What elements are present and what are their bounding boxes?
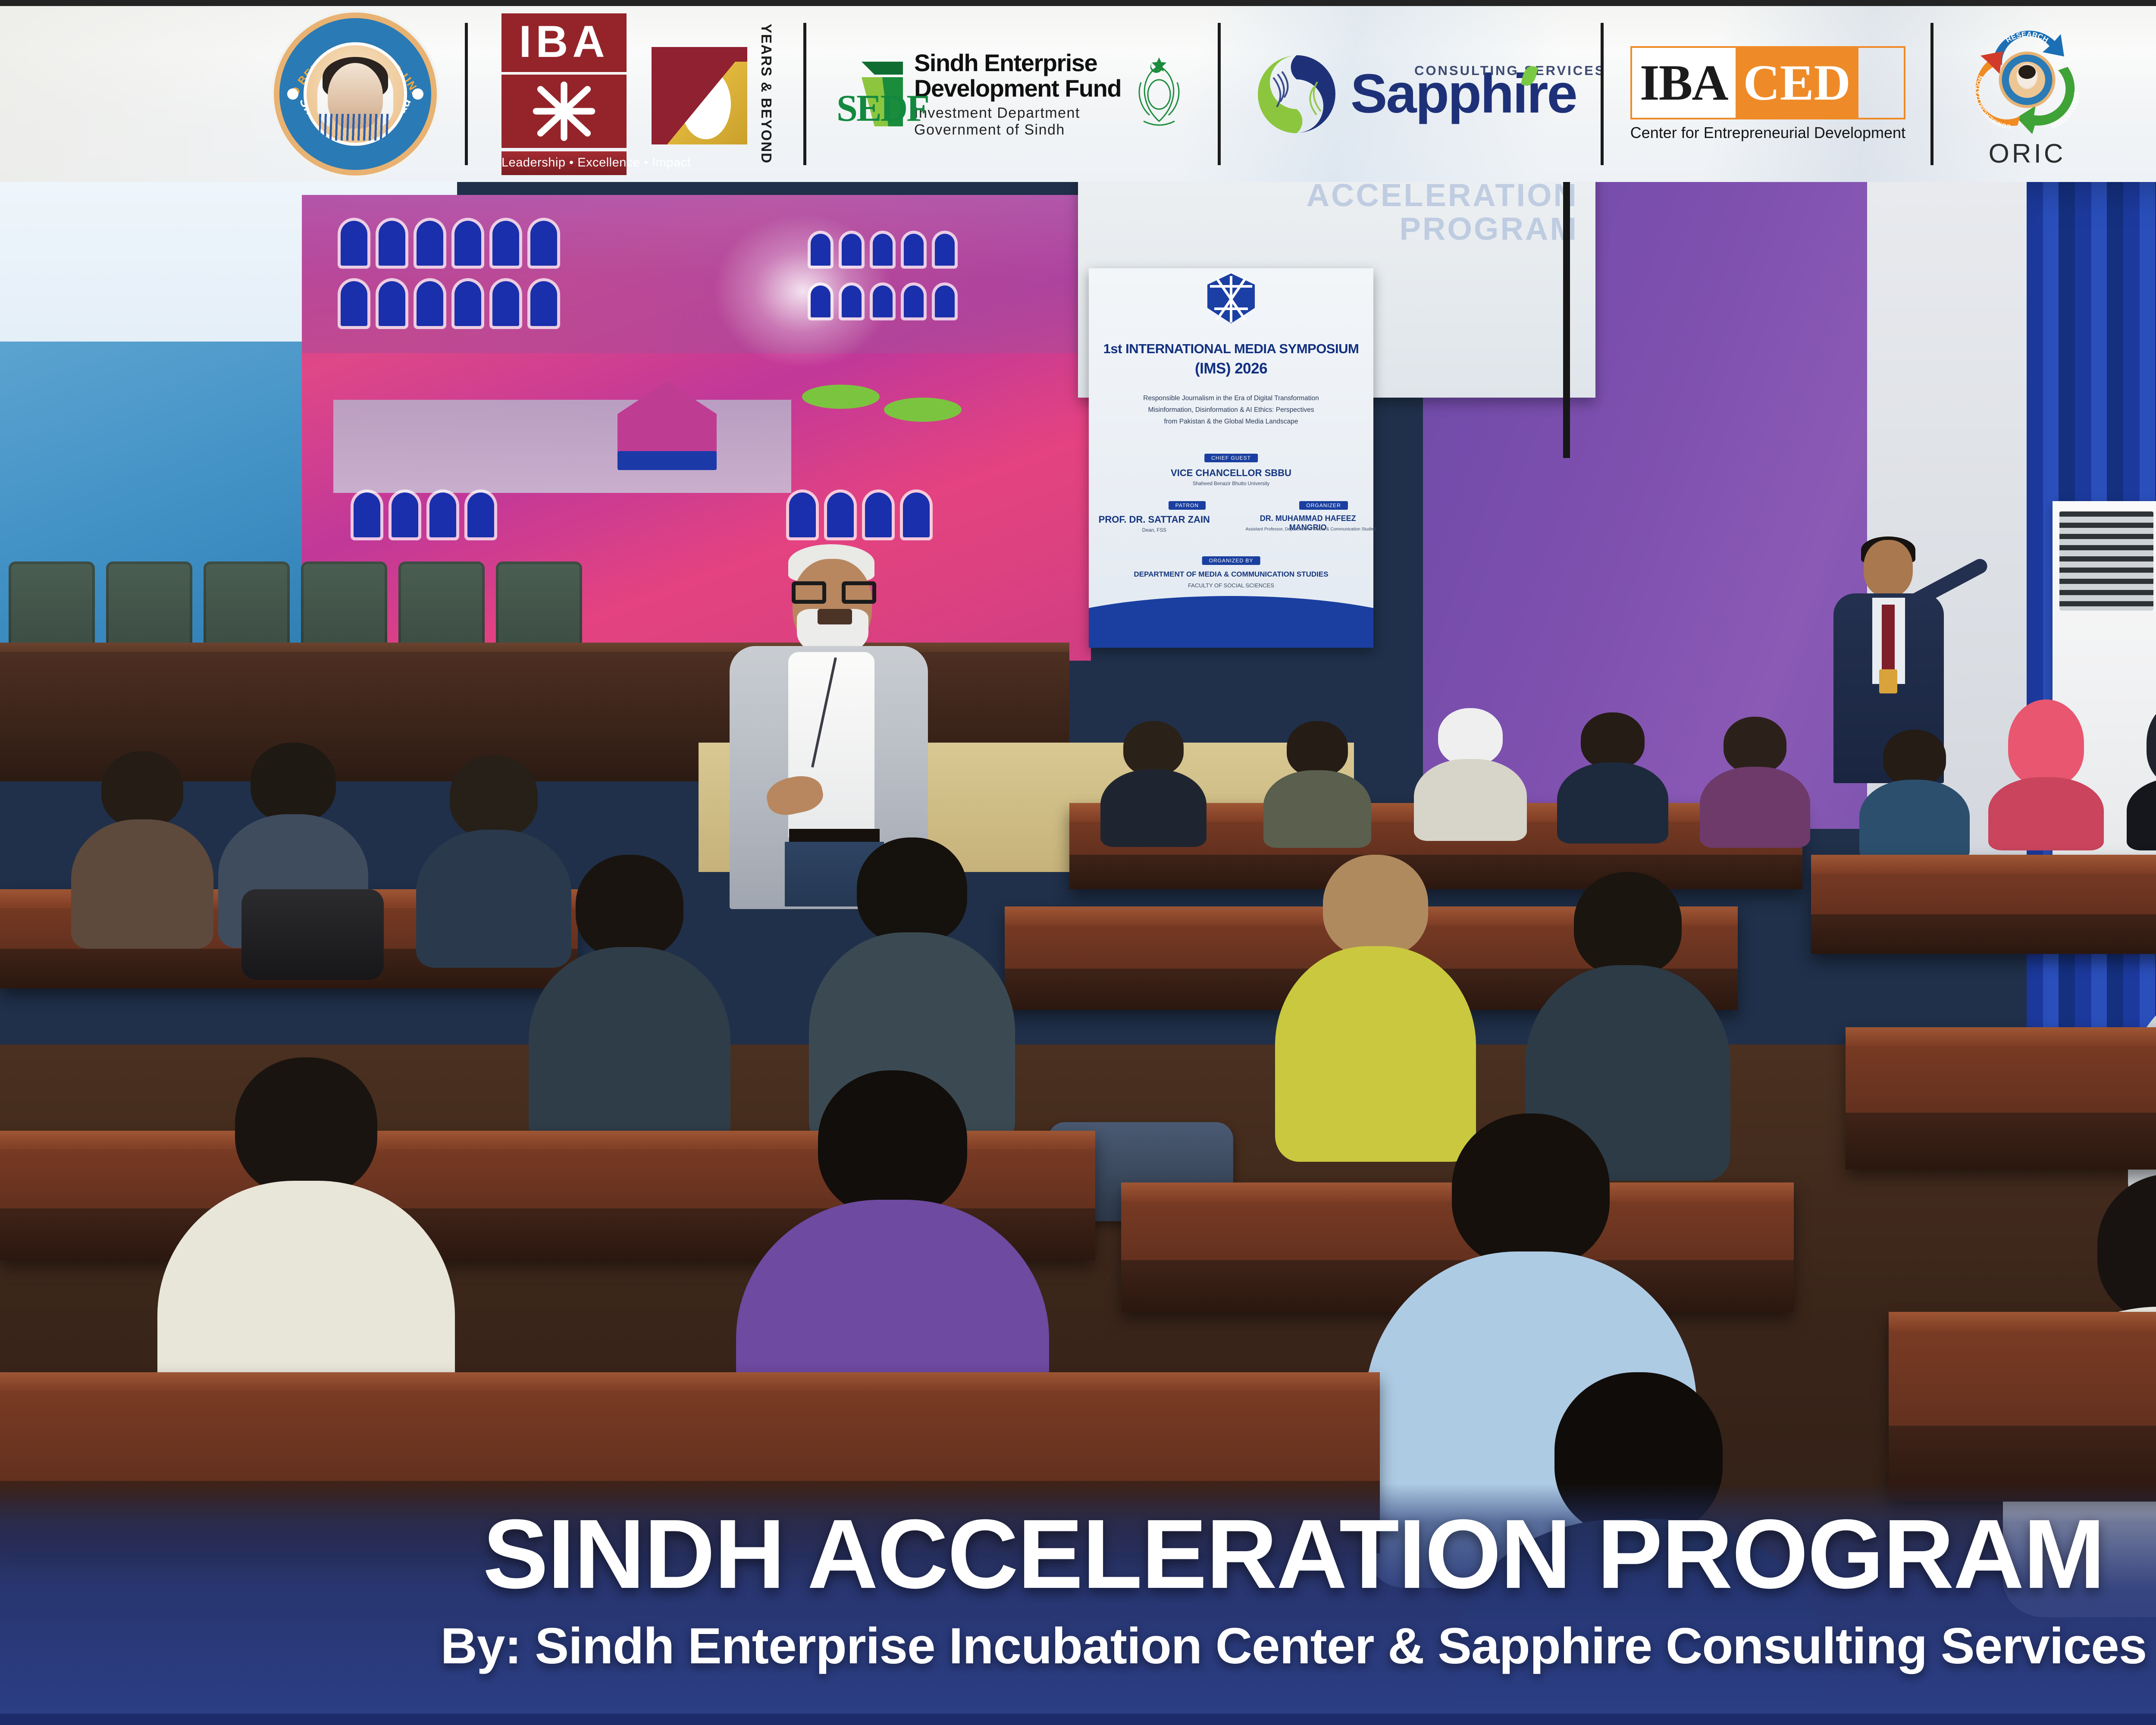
sedf-logo: SEDF Sindh Enterprise Development Fund I…	[838, 51, 1188, 137]
sedf-line2: Development Fund	[914, 76, 1121, 100]
standee-patron-label: PATRON	[1169, 501, 1206, 510]
logo-iba-ced: IBA CED Center for Entrepreneurial Devel…	[1630, 6, 1905, 182]
audience-person-hijab	[1992, 699, 2100, 837]
standee-chief-guest-label: CHIEF GUEST	[1204, 454, 1258, 462]
iba-ced-caption: Center for Entrepreneurial Development	[1630, 124, 1905, 142]
mural-window-row	[811, 234, 955, 266]
oric-wordmark: ORIC	[1989, 138, 2066, 169]
assistant-id-badge	[1879, 669, 1897, 693]
audience-person	[539, 855, 720, 1139]
top-border-rule	[0, 0, 2156, 6]
logo-seventy-years: YEARS & BEYOND	[641, 6, 783, 182]
logo-divider-2	[803, 23, 806, 165]
stage-chair	[398, 561, 485, 656]
sedf-line3: Investment Department	[914, 106, 1121, 120]
mural-window-row	[341, 221, 557, 266]
stage-chair	[106, 561, 192, 656]
mural-window-row	[789, 492, 930, 537]
standee-crest-icon	[1190, 272, 1272, 332]
logo-iba: IBA Leadership • Excellence • Impact	[501, 6, 627, 182]
sedf-line4: Government of Sindh	[914, 122, 1121, 137]
logo-oric: RESEARCH INNOVATION COMMERCIALIZATION	[1956, 6, 2098, 182]
svg-text:RESEARCH: RESEARCH	[2004, 30, 2049, 44]
mural-hedge	[884, 398, 962, 422]
logo-divider-1	[465, 23, 468, 165]
audience-person-abaya	[2130, 699, 2156, 837]
poster-title-band: SINDH ACCELERATION PROGRAM By: Sindh Ent…	[0, 1483, 2156, 1725]
stage-chair	[301, 561, 387, 656]
desk-row-nearest-right	[1889, 1312, 2156, 1502]
projected-slide-text: ACCELERATION PROGRAM	[1307, 182, 1578, 246]
oric-cycle-icon: RESEARCH INNOVATION COMMERCIALIZATION	[1962, 19, 2092, 140]
assistant-head	[1864, 540, 1913, 597]
sapphire-wordmark: CONSULTING SERVICES Sapphire	[1351, 66, 1576, 122]
event-standee-banner: 1st INTERNATIONAL MEDIA SYMPOSIUM (IMS) …	[1089, 268, 1373, 648]
mural-window-row	[354, 492, 494, 537]
event-poster: SHAHEED BENAZIR BHUTTO UNIVERSITY Shahee…	[0, 0, 2156, 1725]
ac-vent-grille	[2059, 511, 2153, 611]
projected-line-1: ACCELERATION	[1307, 182, 1578, 213]
sbbu-seal: SHAHEED BENAZIR BHUTTO UNIVERSITY Shahee…	[279, 18, 431, 170]
logo-divider-4	[1601, 23, 1604, 165]
sedf-acronym: SEDF	[837, 90, 928, 128]
standee-theme: Responsible Journalism in the Era of Dig…	[1103, 392, 1359, 427]
sbbu-portrait-medallion	[304, 42, 407, 146]
desk-row-front-right	[1846, 1027, 2156, 1170]
standee-chief-guest-role: Shaheed Benazir Bhutto University	[1089, 480, 1373, 488]
logo-divider-3	[1218, 23, 1221, 165]
presenter-mouth	[818, 609, 852, 624]
audience-person	[1285, 855, 1466, 1157]
backpack	[241, 889, 384, 980]
sapphire-logo: CONSULTING SERVICES Sapphire	[1253, 50, 1576, 138]
logo-divider-5	[1930, 23, 1934, 165]
oric-logo: RESEARCH INNOVATION COMMERCIALIZATION	[1956, 19, 2098, 169]
standee-title: 1st INTERNATIONAL MEDIA SYMPOSIUM (IMS) …	[1089, 341, 1373, 378]
iba-ced-logo: IBA CED Center for Entrepreneurial Devel…	[1630, 46, 1905, 142]
seventy-years-logo: YEARS & BEYOND	[641, 23, 783, 165]
stage-chair-row	[9, 561, 699, 656]
sbbu-dot-left	[287, 88, 298, 100]
iba-ced-left-word: IBA	[1632, 48, 1736, 118]
sponsor-logo-bar: SHAHEED BENAZIR BHUTTO UNIVERSITY Shahee…	[0, 6, 2156, 182]
poster-subtitle: By: Sindh Enterprise Incubation Center &…	[0, 1621, 2156, 1672]
poster-title: SINDH ACCELERATION PROGRAM	[0, 1505, 2156, 1603]
mural-window-row	[341, 281, 557, 326]
projector-screen-support	[1563, 182, 1570, 458]
bottom-border-rule	[0, 1714, 2156, 1725]
standee-title-line1: 1st INTERNATIONAL MEDIA SYMPOSIUM	[1103, 341, 1359, 356]
stage-chair	[204, 561, 290, 656]
audience-person	[1104, 721, 1203, 833]
logo-sedf: SEDF Sindh Enterprise Development Fund I…	[838, 6, 1188, 182]
iba-starburst-icon	[501, 75, 627, 148]
sedf-line1: Sindh Enterprise	[914, 51, 1121, 75]
sedf-mark: SEDF	[838, 56, 907, 132]
mural-window-row	[811, 285, 955, 317]
iba-tagline: Leadership • Excellence • Impact	[501, 151, 627, 175]
seventy-years-vertical-text: YEARS & BEYOND	[759, 24, 774, 164]
logo-sapphire: CONSULTING SERVICES Sapphire	[1253, 6, 1576, 182]
mural-plaza	[333, 400, 791, 493]
mural-sky	[302, 195, 1091, 353]
standee-theme-line1: Responsible Journalism in the Era of Dig…	[1143, 395, 1319, 402]
logo-sbbu: SHAHEED BENAZIR BHUTTO UNIVERSITY Shahee…	[279, 6, 431, 182]
standee-organizer-label: ORGANIZER	[1299, 501, 1347, 510]
standee-dept-label: ORGANIZED BY	[1202, 556, 1260, 565]
sbbu-open-book-icon	[319, 114, 392, 141]
sapphire-swirl-icon	[1253, 50, 1341, 138]
standee-theme-line3: from Pakistan & the Global Media Landsca…	[1164, 418, 1298, 425]
projected-line-2: PROGRAM	[1400, 211, 1578, 247]
sbbu-dot-right	[412, 88, 423, 100]
mural-hedge	[802, 385, 880, 409]
standee-footer-wave	[1089, 596, 1373, 648]
presenter-eyeglasses-icon	[792, 581, 876, 604]
iba-ced-row: IBA CED	[1630, 46, 1905, 119]
iba-ced-right-word: CED	[1736, 48, 1858, 118]
audience-person	[1703, 717, 1807, 837]
sapphire-sub-label: CONSULTING SERVICES	[1414, 64, 1605, 77]
iba-logo: IBA Leadership • Excellence • Impact	[501, 13, 627, 175]
audience-person	[78, 751, 207, 932]
stage-chair	[496, 561, 582, 656]
audience-person	[1863, 730, 1966, 850]
audience-person	[1268, 721, 1367, 833]
standee-theme-line2: Misinformation, Disinformation & AI Ethi…	[1148, 406, 1314, 414]
standee-chief-guest-name: VICE CHANCELLOR SBBU	[1089, 467, 1373, 479]
oric-arc-research: RESEARCH	[2004, 30, 2049, 44]
sedf-text-block: Sindh Enterprise Development Fund Invest…	[914, 51, 1121, 137]
desk-row-right	[1811, 855, 2156, 954]
standee-dept-line2: FACULTY OF SOCIAL SCIENCES	[1089, 581, 1373, 590]
audience-person	[1419, 708, 1522, 829]
standee-organizer-role: Assistant Professor, Department of Media…	[1231, 526, 1391, 533]
stage-chair	[9, 561, 95, 656]
audience-person	[1561, 712, 1664, 833]
iba-wordmark: IBA	[501, 13, 627, 72]
standee-dept-line1: DEPARTMENT OF MEDIA & COMMUNICATION STUD…	[1089, 570, 1373, 579]
standee-title-line2: (IMS) 2026	[1089, 359, 1373, 378]
mural-building-sign	[617, 451, 717, 470]
government-of-sindh-crest-icon	[1131, 56, 1188, 132]
